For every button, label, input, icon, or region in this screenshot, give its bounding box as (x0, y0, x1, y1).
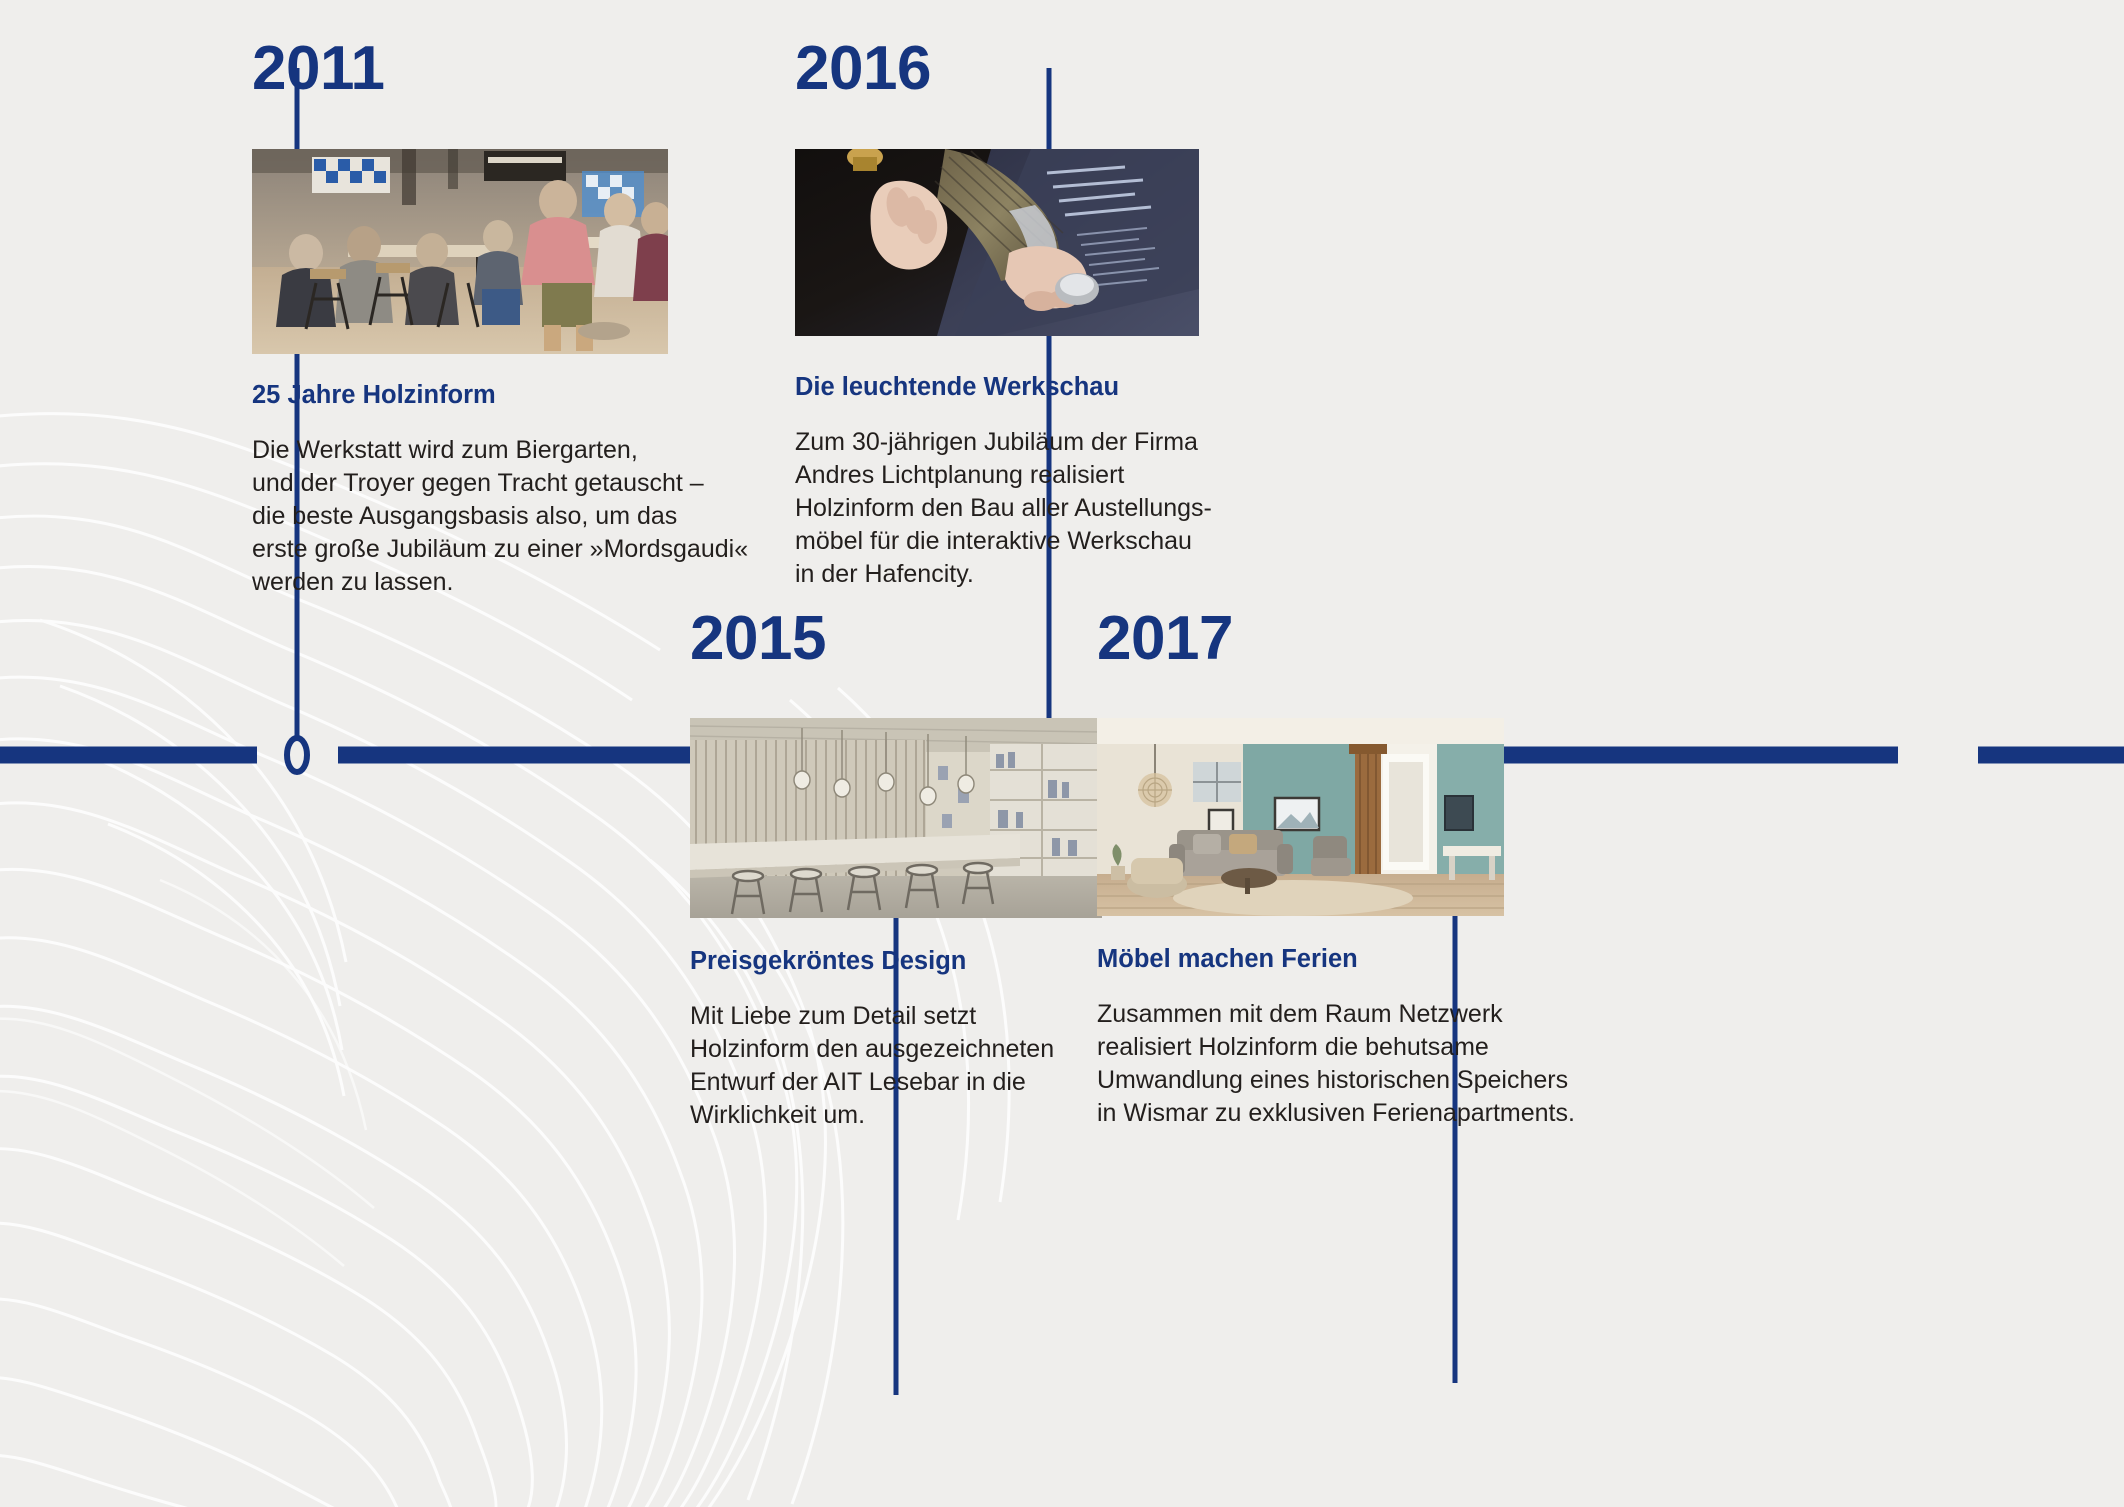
ait-lesebar-interior-photo (690, 718, 1102, 918)
timeline-entry-2016-title: Die leuchtende Werkschau (795, 372, 1415, 404)
timeline-entry-2017-image[interactable] (1097, 718, 1504, 916)
interactive-light-exhibit-photo (795, 149, 1199, 336)
timeline-entry-2011-body: Die Werkstatt wird zum Biergarten, und d… (252, 434, 872, 599)
year-label-2017: 2017 (1097, 608, 1717, 670)
timeline-entry-2011: 2011 (252, 38, 872, 599)
timeline-entry-2016-image[interactable] (795, 149, 1199, 336)
timeline-entry-2017-title: Möbel machen Ferien (1097, 944, 1717, 976)
holiday-apartment-living-room-photo (1097, 718, 1504, 916)
timeline-entry-2015-image[interactable] (690, 718, 1102, 918)
year-label-2016: 2016 (795, 38, 1415, 100)
timeline-entry-2017-body: Zusammen mit dem Raum Netzwerk realisier… (1097, 998, 1717, 1130)
timeline-entry-2011-image[interactable] (252, 149, 668, 354)
timeline-entry-2016: 2016 (795, 38, 1415, 591)
year-label-2011: 2011 (252, 38, 872, 100)
beer-garden-workshop-photo (252, 149, 668, 354)
timeline-entry-2017: 2017 (1097, 608, 1717, 1130)
timeline-entry-2016-body: Zum 30-jährigen Jubiläum der Firma Andre… (795, 426, 1415, 591)
timeline-entry-2011-title: 25 Jahre Holzinform (252, 380, 872, 412)
